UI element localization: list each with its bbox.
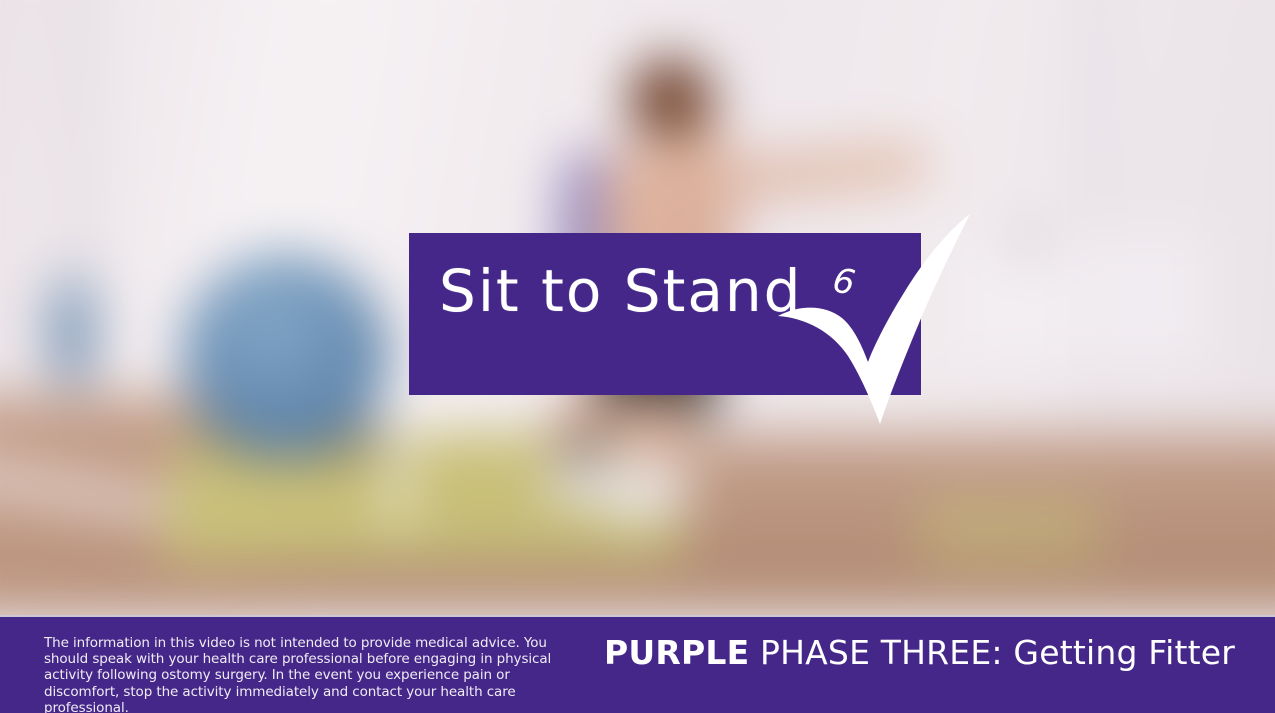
small-blue-object — [48, 275, 96, 387]
brand-label: PURPLE — [604, 633, 749, 672]
exercise-name-label: Sit to Stand — [439, 257, 802, 325]
bottom-banner: The information in this video is not int… — [0, 615, 1275, 713]
person-shoe-front — [608, 466, 690, 514]
exercise-title-card: Sit to Stand — [409, 233, 921, 395]
person-shoe-back — [548, 458, 616, 504]
video-frame: Sit to Stand 6 The information in this v… — [0, 0, 1275, 713]
background-furniture — [945, 225, 1215, 375]
phase-label: PHASE THREE: Getting Fitter — [749, 633, 1235, 672]
furniture-knob — [1018, 232, 1040, 256]
exercise-mat-right — [920, 495, 1100, 565]
exercise-ball — [183, 255, 388, 455]
person-hair — [629, 58, 711, 136]
phase-title: PURPLE PHASE THREE: Getting Fitter — [604, 633, 1235, 672]
medical-disclaimer-text: The information in this video is not int… — [44, 635, 574, 713]
